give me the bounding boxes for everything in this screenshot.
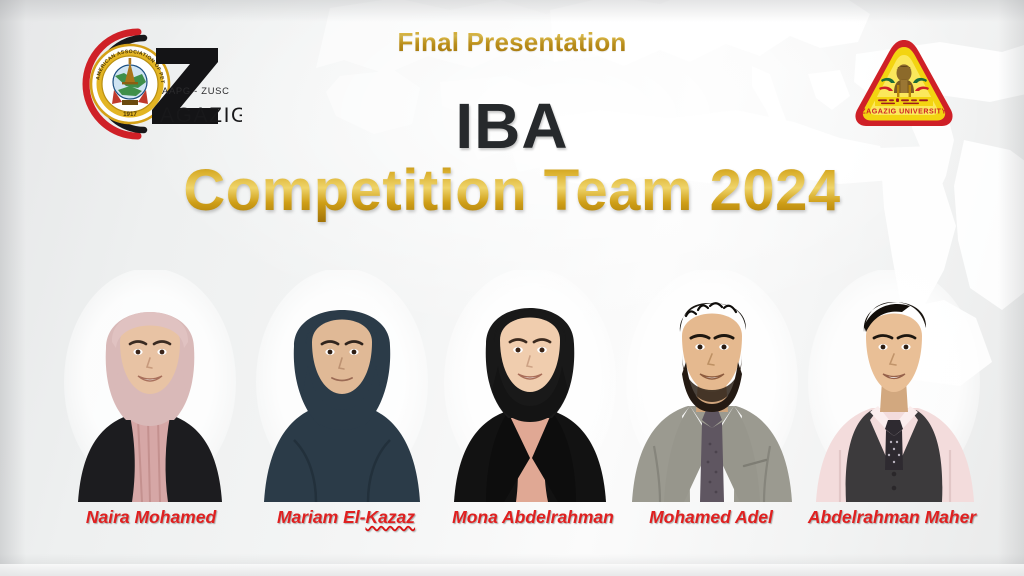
team-member-name-4: Mohamed Adel xyxy=(628,507,794,528)
team-member-name-2: Mariam El-Kazaz xyxy=(248,507,444,528)
portrait-mohamed-adel xyxy=(624,270,800,502)
eyebrow-final-presentation: Final Presentation xyxy=(0,27,1024,58)
page-title: IBA xyxy=(0,89,1024,163)
team-member-name-2-prefix: Mariam El- xyxy=(277,507,366,527)
team-member-name-4-text: Mohamed Adel xyxy=(649,507,773,527)
portrait-mariam-el-kazaz xyxy=(254,270,430,502)
team-member-name-2-misspelled: Kazaz xyxy=(365,507,415,527)
team-member-name-1: Naira Mohamed xyxy=(56,507,246,528)
portrait-naira-mohamed xyxy=(62,270,238,502)
team-member-name-3-text: Mona Abdelrahman xyxy=(452,507,614,527)
team-member-name-5-text: Abdelrahman Maher xyxy=(808,507,976,527)
team-member-name-5: Abdelrahman Maher xyxy=(796,507,988,528)
portrait-abdelrahman-maher xyxy=(806,270,982,502)
portrait-mona-abdelrahman xyxy=(442,270,618,502)
team-member-name-3: Mona Abdelrahman xyxy=(430,507,636,528)
page-subtitle: Competition Team 2024 xyxy=(0,157,1024,224)
presentation-slide: AMERICAN ASSOCIATION OF PETROLEUM GEOLOG… xyxy=(0,0,1024,576)
team-member-name-1-text: Naira Mohamed xyxy=(86,507,216,527)
bottom-floor-band xyxy=(0,564,1024,576)
